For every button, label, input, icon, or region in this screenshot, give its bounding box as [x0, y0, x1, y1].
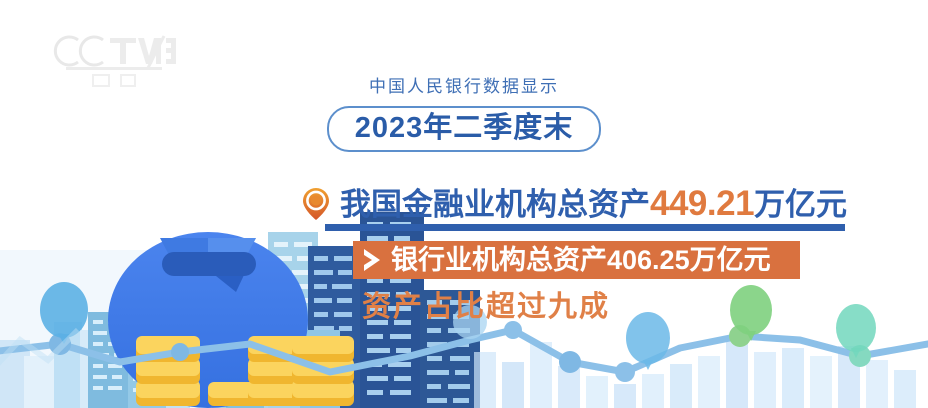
stat-value: 449.21 — [650, 184, 754, 223]
stat-unit: 万亿元 — [754, 187, 847, 222]
stat-banner-bank-assets: 银行业机构总资产406.25万亿元 — [353, 241, 800, 279]
period-badge-wrap: 2023年二季度末 — [0, 106, 928, 152]
location-pin-icon — [302, 187, 330, 221]
source-kicker: 中国人民银行数据显示 — [0, 76, 928, 98]
stat-line-share-text: 资产占比超过九成 — [362, 290, 610, 324]
stat-line-total-assets-text: 我国金融业机构总资产449.21万亿元 — [340, 186, 847, 223]
stat-line-share: 资产占比超过九成 — [0, 290, 928, 324]
stat-banner-text: 银行业机构总资产406.25万亿元 — [391, 244, 771, 276]
stat-label: 我国金融业机构总资产 — [340, 187, 650, 222]
header-block: 中国人民银行数据显示 2023年二季度末 — [0, 76, 928, 152]
chevron-right-icon — [359, 247, 385, 273]
underline-rule — [325, 224, 845, 231]
stat-line-total-assets: 我国金融业机构总资产449.21万亿元 — [302, 184, 847, 224]
period-badge: 2023年二季度末 — [327, 106, 602, 152]
